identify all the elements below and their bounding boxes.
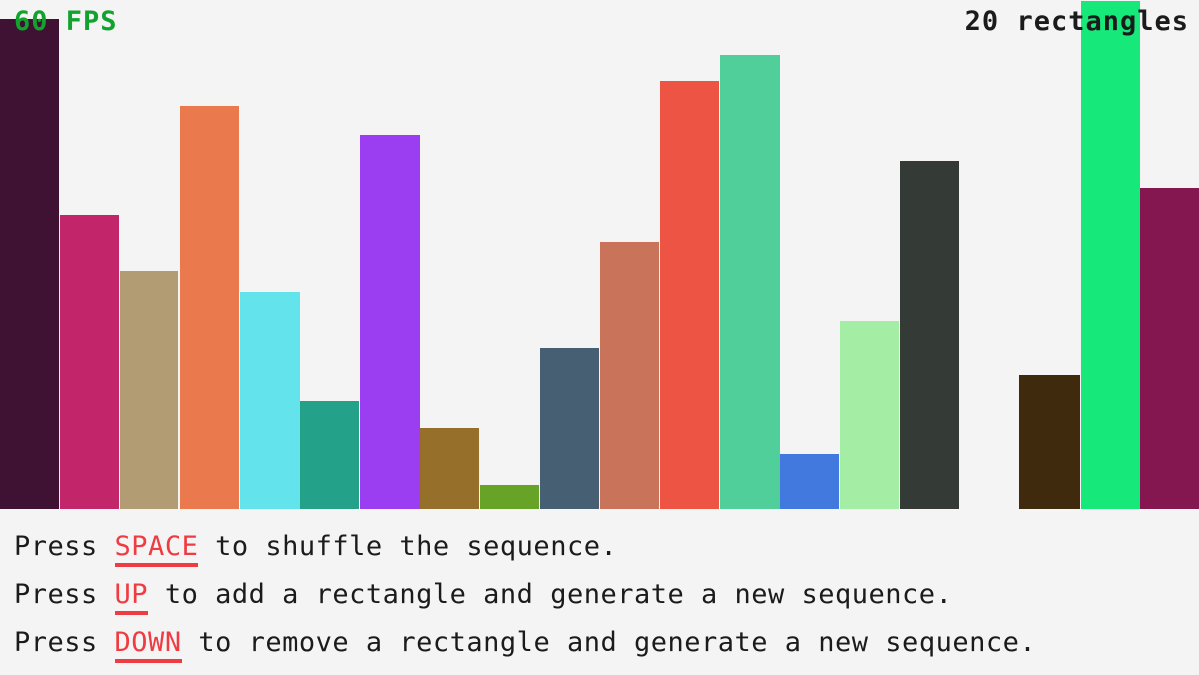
bar-rectangle bbox=[660, 81, 719, 509]
bar-rectangle bbox=[60, 215, 119, 509]
bar-rectangle bbox=[480, 485, 539, 509]
bar-rectangle bbox=[1081, 1, 1140, 509]
bar-rectangle bbox=[360, 135, 420, 509]
bar-rectangle bbox=[900, 161, 959, 509]
fps-counter: 60 FPS bbox=[14, 8, 118, 35]
bar-rectangle bbox=[720, 55, 780, 509]
instruction-line: Press SPACE to shuffle the sequence. bbox=[14, 533, 617, 560]
keycap-down[interactable]: DOWN bbox=[115, 627, 182, 663]
instruction-suffix: to remove a rectangle and generate a new… bbox=[182, 627, 1037, 658]
bar-rectangle bbox=[1140, 188, 1199, 509]
instruction-prefix: Press bbox=[14, 579, 115, 610]
bar-rectangle bbox=[840, 321, 899, 509]
instruction-prefix: Press bbox=[14, 531, 115, 562]
instruction-prefix: Press bbox=[14, 627, 115, 658]
bar-rectangle bbox=[780, 454, 839, 509]
instruction-line: Press UP to add a rectangle and generate… bbox=[14, 581, 952, 608]
bar-rectangle bbox=[0, 19, 59, 509]
instruction-suffix: to shuffle the sequence. bbox=[198, 531, 617, 562]
bar-rectangle bbox=[240, 292, 300, 509]
bar-rectangle bbox=[600, 242, 659, 509]
rectangle-shuffle-app: 60 FPS 20 rectangles Press SPACE to shuf… bbox=[0, 0, 1199, 675]
rectangle-count-label: 20 rectangles bbox=[965, 8, 1189, 35]
bar-rectangle bbox=[120, 271, 178, 509]
bar-rectangle bbox=[300, 401, 359, 509]
keycap-space[interactable]: SPACE bbox=[115, 531, 199, 567]
bar-rectangle bbox=[180, 106, 239, 509]
bar-rectangle bbox=[420, 428, 479, 509]
bar-chart-canvas[interactable] bbox=[0, 0, 1199, 509]
bar-rectangle bbox=[1019, 375, 1080, 509]
bar-rectangle bbox=[540, 348, 599, 509]
keycap-up[interactable]: UP bbox=[115, 579, 149, 615]
instructions-panel: Press SPACE to shuffle the sequence.Pres… bbox=[0, 509, 1199, 675]
instruction-line: Press DOWN to remove a rectangle and gen… bbox=[14, 629, 1036, 656]
instruction-suffix: to add a rectangle and generate a new se… bbox=[148, 579, 952, 610]
